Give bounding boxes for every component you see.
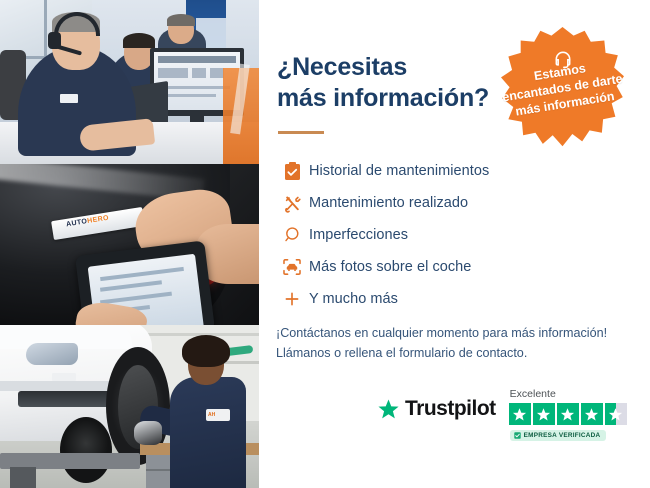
star-icon bbox=[512, 407, 527, 422]
uniform-badge-text: AH bbox=[208, 412, 215, 418]
trustpilot-rating-label: Excelente bbox=[510, 388, 556, 400]
feature-label: Más fotos sobre el coche bbox=[309, 259, 471, 275]
license-plate-area bbox=[52, 373, 76, 381]
support-starburst-badge: Estamos encantados de darte más informac… bbox=[501, 27, 624, 150]
title-underline-rule bbox=[278, 131, 324, 134]
screen-header-bar bbox=[158, 56, 236, 63]
star-filled bbox=[533, 403, 555, 425]
vehicle-lift-post bbox=[10, 467, 36, 488]
plus-glyph bbox=[283, 290, 301, 308]
mechanic-wheel-photo: AH bbox=[0, 325, 259, 488]
magnifier-icon bbox=[275, 226, 309, 244]
page-title: ¿Necesitas más información? bbox=[277, 52, 489, 113]
star-filled bbox=[581, 403, 603, 425]
screen-text-line bbox=[162, 94, 216, 97]
contact-line-1: ¡Contáctanos en cualquier momento para m… bbox=[276, 326, 607, 340]
contact-copy: ¡Contáctanos en cualquier momento para m… bbox=[276, 323, 636, 364]
car-grille bbox=[18, 391, 114, 407]
trustpilot-stars bbox=[509, 403, 627, 425]
tools-cross-icon bbox=[275, 194, 309, 213]
star-filled bbox=[557, 403, 579, 425]
mechanic-glove bbox=[134, 421, 162, 445]
screen-text-line bbox=[162, 86, 230, 89]
star-icon bbox=[608, 407, 623, 422]
call-center-agents-photo bbox=[0, 0, 259, 164]
verified-label: EMPRESA VERIFICADA bbox=[524, 432, 601, 439]
mechanic-hair bbox=[182, 335, 230, 367]
feature-label: Y mucho más bbox=[309, 291, 398, 307]
screen-thumbnail bbox=[192, 68, 206, 78]
trustpilot-logo[interactable]: Trustpilot bbox=[377, 397, 496, 421]
second-agent-hair bbox=[123, 33, 155, 48]
star-icon bbox=[584, 407, 599, 422]
info-content-panel: ¿Necesitas más información? Estamos enca… bbox=[259, 0, 650, 488]
feature-label: Historial de mantenimientos bbox=[309, 163, 489, 179]
feature-item-maintenance-history: Historial de mantenimientos bbox=[275, 155, 575, 187]
feature-item-more-photos: Más fotos sobre el coche bbox=[275, 251, 575, 283]
screen-thumbnail bbox=[210, 68, 224, 78]
star-icon bbox=[536, 407, 551, 422]
clipboard-check-glyph bbox=[284, 162, 301, 181]
contact-line-2: Llámanos o rellena el formulario de cont… bbox=[276, 346, 527, 360]
plus-icon bbox=[275, 290, 309, 308]
headline-line-1: ¿Necesitas bbox=[277, 53, 407, 81]
trustpilot-rating-block[interactable]: Trustpilot Excelente bbox=[377, 388, 627, 441]
car-headlight bbox=[26, 343, 78, 365]
screen-thumbnail bbox=[158, 68, 188, 78]
star-filled bbox=[509, 403, 531, 425]
info-panel-banner: AUTOHERO bbox=[0, 0, 650, 488]
trustpilot-star-icon bbox=[377, 398, 400, 421]
trustpilot-score-area: Excelente bbox=[509, 388, 627, 441]
photo-collage: AUTOHERO bbox=[0, 0, 259, 488]
feature-label: Mantenimiento realizado bbox=[309, 195, 468, 211]
verified-check-icon bbox=[514, 432, 521, 439]
background-person-hair bbox=[167, 14, 195, 26]
feature-list: Historial de mantenimientos Mantenimient… bbox=[275, 155, 575, 315]
star-half bbox=[605, 403, 627, 425]
star-icon bbox=[560, 407, 575, 422]
clipboard-check-icon bbox=[275, 162, 309, 181]
rear-wheel bbox=[60, 417, 112, 483]
mechanic-body bbox=[170, 377, 246, 488]
feature-item-maintenance-done: Mantenimiento realizado bbox=[275, 187, 575, 219]
feature-item-imperfections: Imperfecciones bbox=[275, 219, 575, 251]
agent-name-badge bbox=[60, 94, 78, 103]
vehicle-inspection-photo: AUTOHERO bbox=[0, 164, 259, 325]
wrench-screwdriver-glyph bbox=[283, 194, 302, 213]
car-in-focus-frame-glyph bbox=[282, 258, 302, 276]
car-photo-frame-icon bbox=[275, 258, 309, 276]
feature-label: Imperfecciones bbox=[309, 227, 408, 243]
magnifier-glyph bbox=[283, 226, 301, 244]
feature-item-much-more: Y mucho más bbox=[275, 283, 575, 315]
verified-company-badge: EMPRESA VERIFICADA bbox=[510, 430, 607, 441]
headline-line-2: más información? bbox=[277, 84, 489, 112]
trustpilot-wordmark: Trustpilot bbox=[405, 397, 496, 421]
